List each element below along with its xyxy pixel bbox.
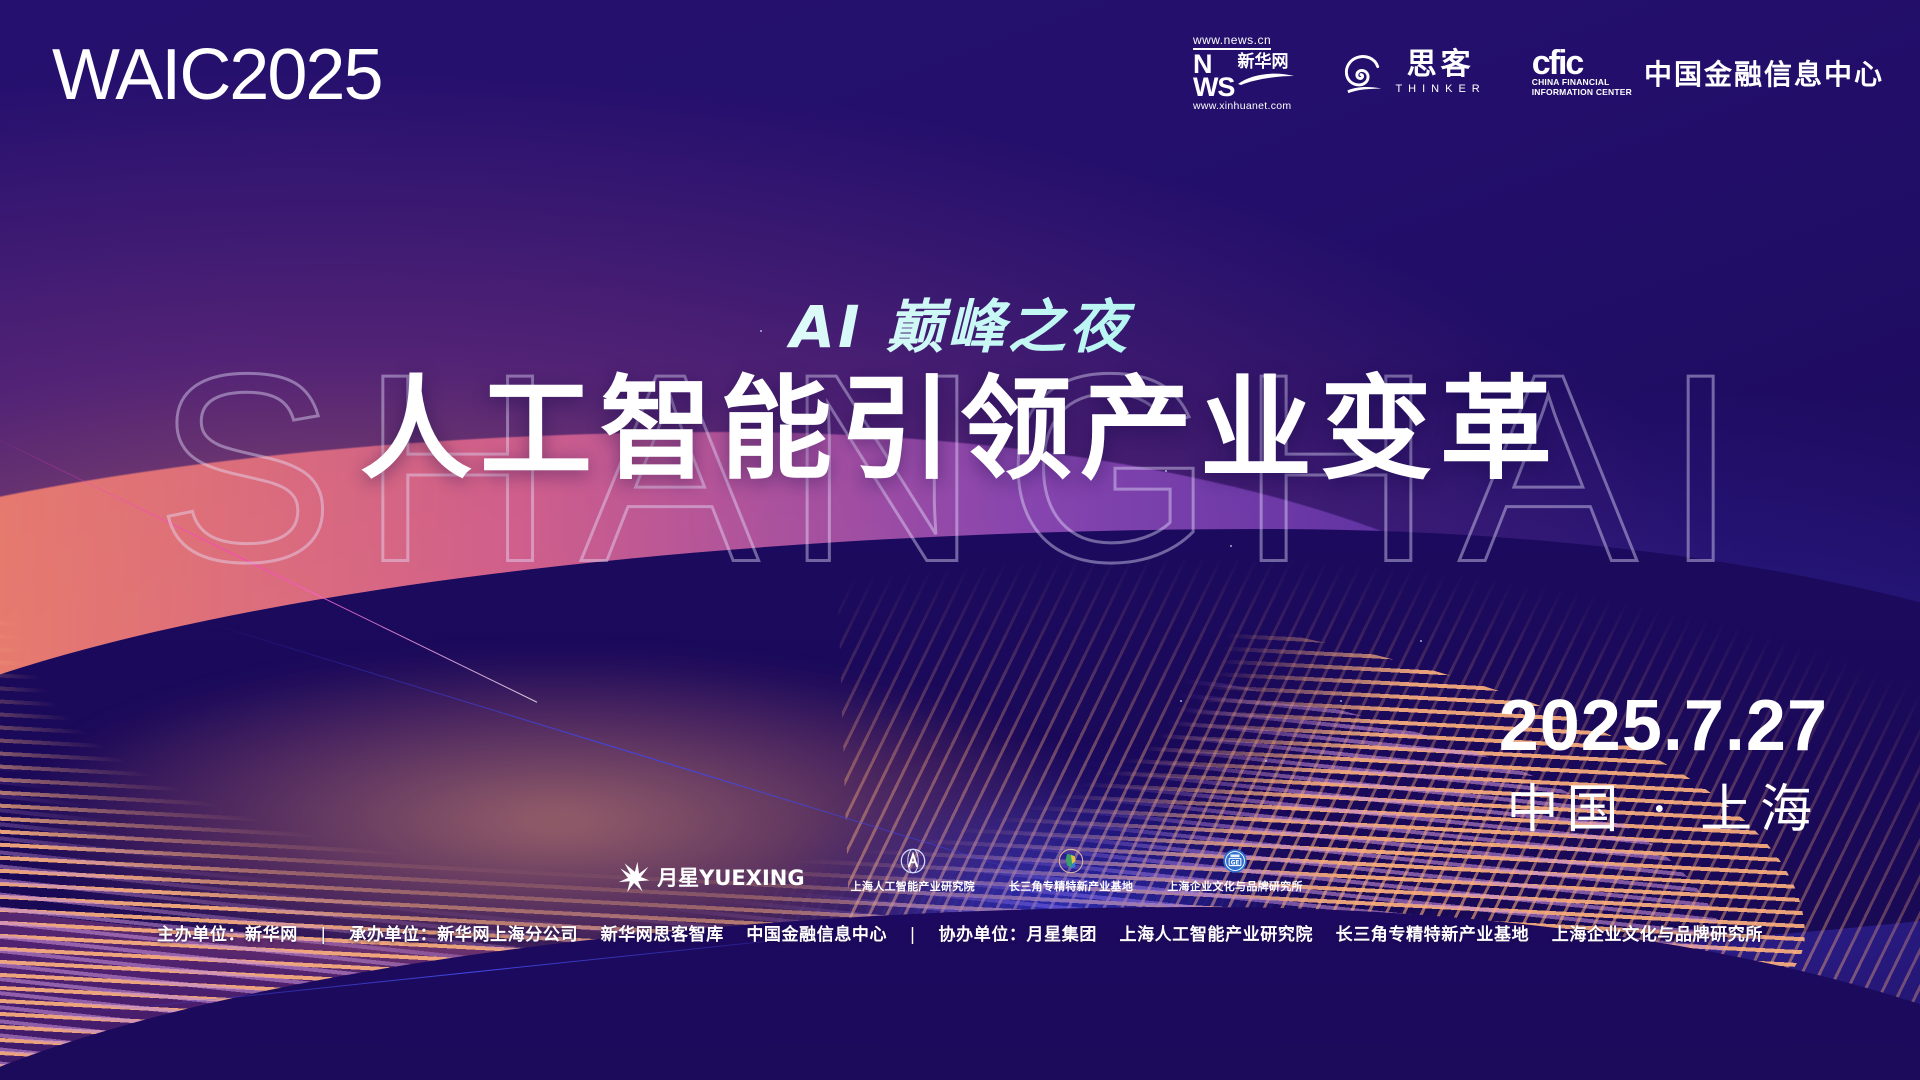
credit-separator-1: | [304,925,342,945]
globe-a-icon [900,848,926,874]
sponsor-logo-yrd: 长三角专精特新产业基地 [1009,848,1133,894]
sponsor-name-saii: 上海人工智能产业研究院 [851,878,975,894]
sponsor-name-yuexing: 月星YUEXING [657,862,804,892]
credits-line: 主办单位：新华网 | 承办单位：新华网上海分公司 新华网思客智库 中国金融信息中… [0,920,1920,945]
thinker-cn-name: 思客 [1407,50,1475,80]
xinhua-cn-name: 新华网 [1237,53,1295,70]
star-particle [1180,700,1182,702]
seal-circle-icon: GE [1222,848,1248,874]
thinker-wordmark: 思客 THINKER [1395,50,1485,95]
star-particle [1340,700,1342,702]
thinker-swirl-icon [1341,51,1385,95]
xinhua-logo: www.news.cn N WS 新华网 www.xinhuanet.com [1193,34,1296,111]
star-particle [1265,760,1267,762]
event-date: 2025.7.27 [1499,690,1828,762]
credit-organizer: 承办单位：新华网上海分公司 [349,925,578,945]
credit-separator-2: | [894,925,932,945]
sponsor-name-yrd: 长三角专精特新产业基地 [1009,878,1133,894]
waic-logo: WAIC2025 [52,34,381,116]
sponsor-logo-yuexing: 月星YUEXING [617,860,804,894]
thinker-en-name: THINKER [1395,84,1485,95]
thinker-logo: 思客 THINKER [1341,50,1485,95]
cfic-letters: cfic [1532,48,1632,79]
credit-organizer-3: 中国金融信息中心 [746,925,887,945]
partner-logo-bar: www.news.cn N WS 新华网 www.xinhuanet.com [1193,34,1884,111]
credit-coorganizer-4: 上海企业文化与品牌研究所 [1552,925,1763,945]
sponsor-logo-row: 月星YUEXING 上海人工智能产业研究院 长三角专精特新产业基地 [0,848,1920,894]
cfic-en-line2: INFORMATION CENTER [1532,88,1632,98]
event-location: 中国 · 上海 [1499,784,1828,836]
poster-canvas: SHANGHAI WAIC2025 www.news.cn N WS 新华网 w… [0,0,1920,1080]
xinhua-swoosh-icon [1237,70,1295,86]
event-date-block: 2025.7.27 中国 · 上海 [1499,690,1828,836]
xinhua-mark: N WS 新华网 [1193,53,1296,99]
credit-host: 主办单位：新华网 [157,925,298,945]
sponsor-name-secbi: 上海企业文化与品牌研究所 [1167,878,1303,894]
cfic-mark: cfic CHINA FINANCIAL INFORMATION CENTER [1532,48,1632,98]
event-headline: 人工智能引领产业变革 [0,360,1920,500]
sponsor-logo-secbi: GE 上海企业文化与品牌研究所 [1167,848,1303,894]
waic-logo-text: WAIC2025 [52,35,381,115]
credit-coorganizer-2: 上海人工智能产业研究院 [1119,925,1313,945]
xinhua-url-bottom: www.xinhuanet.com [1193,101,1291,112]
svg-text:GE: GE [1231,860,1240,866]
cfic-cn-name: 中国金融信息中心 [1644,53,1884,93]
credit-coorganizer: 协办单位：月星集团 [939,925,1097,945]
sponsor-logo-saii: 上海人工智能产业研究院 [851,848,975,894]
credit-organizer-2: 新华网思客智库 [601,925,724,945]
xinhua-url-top: www.news.cn [1193,34,1271,50]
warm-glow [0,605,1267,1037]
credit-coorganizer-3: 长三角专精特新产业基地 [1336,925,1530,945]
xinhua-mark-ws: WS [1193,76,1235,99]
map-circle-icon [1058,848,1084,874]
star-particle [1420,640,1422,642]
yuexing-star-icon [617,860,651,894]
event-subtitle: AI 巅峰之夜 [0,280,1920,364]
cfic-logo: cfic CHINA FINANCIAL INFORMATION CENTER … [1532,48,1884,98]
